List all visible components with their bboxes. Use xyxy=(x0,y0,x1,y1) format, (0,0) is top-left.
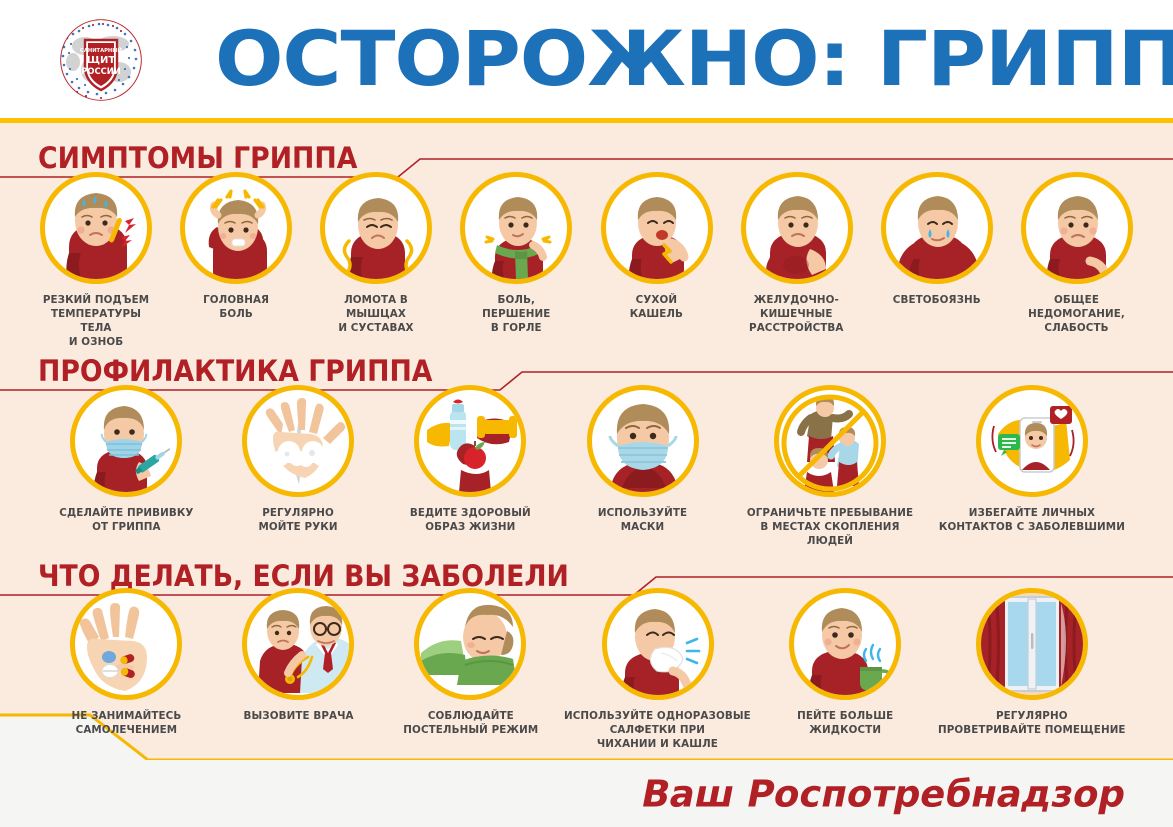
prevention-item-wash-hands[interactable]: РЕГУЛЯРНО МОЙТЕ РУКИ xyxy=(213,385,383,534)
symptom-item-stomach-upset[interactable]: ЖЕЛУДОЧНО- КИШЕЧНЫЕ РАССТРОЙСТВА xyxy=(733,172,861,335)
section-title-prevention: ПРОФИЛАКТИКА ГРИППА xyxy=(38,357,432,386)
section-title-symptoms: СИМПТОМЫ ГРИППА xyxy=(38,144,357,173)
symptom-item-photophobia[interactable]: СВЕТОБОЯЗНЬ xyxy=(873,172,1001,307)
what-to-do-row: НЕ ЗАНИМАЙТЕСЬ САМОЛЕЧЕНИЕМ xyxy=(0,588,1173,751)
action-item-tissue[interactable]: ИСПОЛЬЗУЙТЕ ОДНОРАЗОВЫЕ САЛФЕТКИ ПРИ ЧИХ… xyxy=(558,588,758,751)
logo-line3: РОССИИ xyxy=(81,66,121,76)
symptom-item-headache[interactable]: ГОЛОВНАЯ БОЛЬ xyxy=(172,172,300,321)
action-caption: ПЕЙТЕ БОЛЬШЕ ЖИДКОСТИ xyxy=(797,709,893,737)
headache-icon xyxy=(180,172,292,284)
symptom-caption: ЖЕЛУДОЧНО- КИШЕЧНЫЕ РАССТРОЙСТВА xyxy=(749,293,843,335)
action-caption: РЕГУЛЯРНО ПРОВЕТРИВАЙТЕ ПОМЕЩЕНИЕ xyxy=(938,709,1126,737)
avoid-crowds-icon xyxy=(774,385,886,497)
avoid-contact-phone-icon xyxy=(976,385,1088,497)
gold-divider-band xyxy=(0,118,1173,123)
prevention-row: СДЕЛАЙТЕ ПРИВИВКУ ОТ ГРИППА xyxy=(0,385,1173,548)
symptom-caption: БОЛЬ, ПЕРШЕНИЕ В ГОРЛЕ xyxy=(482,293,550,335)
action-caption: СОБЛЮДАЙТЕ ПОСТЕЛЬНЫЙ РЕЖИМ xyxy=(403,709,538,737)
wash-hands-soap-icon xyxy=(242,385,354,497)
prevention-caption: ИЗБЕГАЙТЕ ЛИЧНЫХ КОНТАКТОВ С ЗАБОЛЕВШИМИ xyxy=(939,506,1125,534)
action-caption: НЕ ЗАНИМАЙТЕСЬ САМОЛЕЧЕНИЕМ xyxy=(71,709,181,737)
symptom-caption: СУХОЙ КАШЕЛЬ xyxy=(630,293,683,321)
section-title-what-to-do: ЧТО ДЕЛАТЬ, ЕСЛИ ВЫ ЗАБОЛЕЛИ xyxy=(38,562,569,591)
dry-cough-icon xyxy=(601,172,713,284)
symptom-item-muscle-ache[interactable]: ЛОМОТА В МЫШЦАХ И СУСТАВАХ xyxy=(312,172,440,335)
bed-rest-icon xyxy=(414,588,526,700)
symptom-caption: ОБЩЕЕ НЕДОМОГАНИЕ, СЛАБОСТЬ xyxy=(1029,293,1126,335)
call-doctor-icon xyxy=(242,588,354,700)
drink-fluids-icon xyxy=(789,588,901,700)
action-caption: ИСПОЛЬЗУЙТЕ ОДНОРАЗОВЫЕ САЛФЕТКИ ПРИ ЧИХ… xyxy=(564,709,751,751)
disposable-tissue-icon xyxy=(602,588,714,700)
logo-line1: САНИТАРНЫЙ xyxy=(80,46,122,54)
prevention-item-avoid-contact[interactable]: ИЗБЕГАЙТЕ ЛИЧНЫХ КОНТАКТОВ С ЗАБОЛЕВШИМИ xyxy=(932,385,1132,534)
symptom-row: РЕЗКИЙ ПОДЪЕМ ТЕМПЕРАТУРЫ ТЕЛА И ОЗНОБ xyxy=(0,172,1173,349)
action-item-no-self-medication[interactable]: НЕ ЗАНИМАЙТЕСЬ САМОЛЕЧЕНИЕМ xyxy=(41,588,211,737)
muscle-joint-ache-icon xyxy=(320,172,432,284)
prevention-item-avoid-crowds[interactable]: ОГРАНИЧЬТЕ ПРЕБЫВАНИЕ В МЕСТАХ СКОПЛЕНИЯ… xyxy=(730,385,930,548)
stomach-upset-icon xyxy=(741,172,853,284)
prevention-caption: ОГРАНИЧЬТЕ ПРЕБЫВАНИЕ В МЕСТАХ СКОПЛЕНИЯ… xyxy=(736,506,924,548)
action-item-ventilate[interactable]: РЕГУЛЯРНО ПРОВЕТРИВАЙТЕ ПОМЕЩЕНИЕ xyxy=(932,588,1132,737)
influenza-awareness-poster: САНИТАРНЫЙ ЩИТ РОССИИ ОСТОРОЖНО: ГРИПП! … xyxy=(0,0,1173,827)
prevention-item-healthy-lifestyle[interactable]: ВЕДИТЕ ЗДОРОВЫЙ ОБРАЗ ЖИЗНИ xyxy=(385,385,555,534)
prevention-caption: РЕГУЛЯРНО МОЙТЕ РУКИ xyxy=(259,506,338,534)
healthy-lifestyle-icon xyxy=(414,385,526,497)
symptom-caption: СВЕТОБОЯЗНЬ xyxy=(893,293,981,307)
action-item-drink-fluids[interactable]: ПЕЙТЕ БОЛЬШЕ ЖИДКОСТИ xyxy=(760,588,930,737)
action-item-call-doctor[interactable]: ВЫЗОВИТЕ ВРАЧА xyxy=(213,588,383,723)
section-symptoms: СИМПТОМЫ ГРИППА xyxy=(0,127,1173,171)
prevention-caption: ИСПОЛЬЗУЙТЕ МАСКИ xyxy=(598,506,687,534)
photophobia-icon xyxy=(881,172,993,284)
section-prevention: ПРОФИЛАКТИКА ГРИППА xyxy=(0,340,1173,384)
sanitary-shield-russia-logo: САНИТАРНЫЙ ЩИТ РОССИИ xyxy=(45,14,157,106)
symptom-item-malaise[interactable]: ОБЩЕЕ НЕДОМОГАНИЕ, СЛАБОСТЬ xyxy=(1013,172,1141,335)
face-mask-icon xyxy=(587,385,699,497)
prevention-caption: ВЕДИТЕ ЗДОРОВЫЙ ОБРАЗ ЖИЗНИ xyxy=(410,506,531,534)
symptom-item-fever[interactable]: РЕЗКИЙ ПОДЪЕМ ТЕМПЕРАТУРЫ ТЕЛА И ОЗНОБ xyxy=(32,172,160,349)
prevention-caption: СДЕЛАЙТЕ ПРИВИВКУ ОТ ГРИППА xyxy=(59,506,193,534)
poster-header: САНИТАРНЫЙ ЩИТ РОССИИ ОСТОРОЖНО: ГРИПП! xyxy=(0,0,1173,118)
page-title: ОСТОРОЖНО: ГРИПП! xyxy=(215,21,1173,97)
sore-throat-scarf-icon xyxy=(460,172,572,284)
general-malaise-icon xyxy=(1021,172,1133,284)
symptom-caption: ГОЛОВНАЯ БОЛЬ xyxy=(203,293,269,321)
symptom-item-sore-throat[interactable]: БОЛЬ, ПЕРШЕНИЕ В ГОРЛЕ xyxy=(452,172,580,335)
fever-thermometer-icon xyxy=(40,172,152,284)
logo-line2: ЩИТ xyxy=(87,55,116,66)
vaccination-syringe-icon xyxy=(70,385,182,497)
symptom-caption: ЛОМОТА В МЫШЦАХ И СУСТАВАХ xyxy=(316,293,436,335)
footer-signature: Ваш Роспотребнадзор xyxy=(638,775,1129,812)
prevention-item-masks[interactable]: ИСПОЛЬЗУЙТЕ МАСКИ xyxy=(558,385,728,534)
no-self-medication-pills-icon xyxy=(70,588,182,700)
action-caption: ВЫЗОВИТЕ ВРАЧА xyxy=(243,709,353,723)
poster-footer: Ваш Роспотребнадзор xyxy=(0,760,1173,827)
action-item-bed-rest[interactable]: СОБЛЮДАЙТЕ ПОСТЕЛЬНЫЙ РЕЖИМ xyxy=(385,588,555,737)
section-what-to-do: ЧТО ДЕЛАТЬ, ЕСЛИ ВЫ ЗАБОЛЕЛИ xyxy=(0,545,1173,589)
symptom-item-dry-cough[interactable]: СУХОЙ КАШЕЛЬ xyxy=(593,172,721,321)
ventilate-room-window-icon xyxy=(976,588,1088,700)
prevention-item-vaccination[interactable]: СДЕЛАЙТЕ ПРИВИВКУ ОТ ГРИППА xyxy=(41,385,211,534)
